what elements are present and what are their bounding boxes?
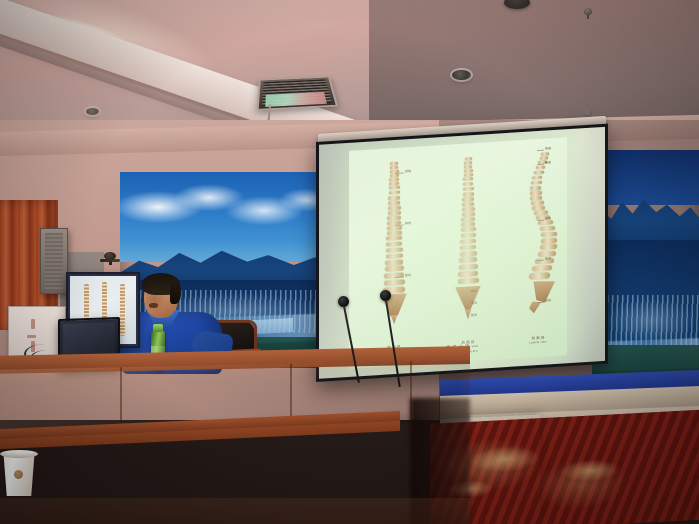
paper-cup-rim — [0, 450, 38, 458]
foreground-desk-shadow — [0, 498, 470, 524]
downlight-icon — [86, 108, 99, 115]
spine-figure-posterior — [445, 156, 491, 335]
annotation-lateral-0: 颈曲 — [545, 146, 551, 150]
lecture-hall-photo: 前 面 观 Anterior view — [0, 0, 699, 524]
wall-speaker-icon — [40, 228, 68, 294]
annotation-anterior-1: 胸椎 — [405, 221, 411, 225]
annotation-anterior-0: 颈椎 — [405, 169, 411, 173]
annotation-lateral-1: 胸曲 — [545, 160, 551, 164]
projector-screen: 前 面 观 Anterior view — [316, 124, 608, 382]
screen-surface: 前 面 观 Anterior view — [319, 127, 605, 379]
annotation-posterior-1: 横突 — [471, 301, 477, 305]
mural-sky — [592, 150, 699, 205]
bottle-cap — [153, 324, 163, 332]
projected-slide: 前 面 观 Anterior view — [349, 137, 567, 369]
sprinkler-icon — [584, 8, 592, 15]
paper-cup-logo — [14, 470, 23, 479]
mural-city — [592, 295, 699, 345]
presenter-mouth — [149, 303, 158, 308]
annotation-posterior-2: 骶骨 — [471, 313, 477, 317]
annotation-lateral-3: 骶曲 — [545, 256, 551, 260]
mural-clouds — [120, 180, 332, 239]
annotation-lateral-4: 尾骨 — [545, 298, 551, 302]
annotation-anterior-2: 腰椎 — [405, 273, 411, 277]
spine-figure-anterior — [371, 161, 417, 340]
vent-reflection — [265, 92, 326, 107]
spine-figure-lateral — [515, 152, 561, 331]
webcam-icon — [100, 252, 120, 264]
mural-right — [592, 150, 699, 400]
annotation-lateral-2: 腰曲 — [545, 216, 551, 220]
presenter-hair-side — [170, 282, 181, 304]
downlight-icon — [452, 70, 471, 80]
annotation-posterior-0: 棘突 — [471, 289, 477, 293]
